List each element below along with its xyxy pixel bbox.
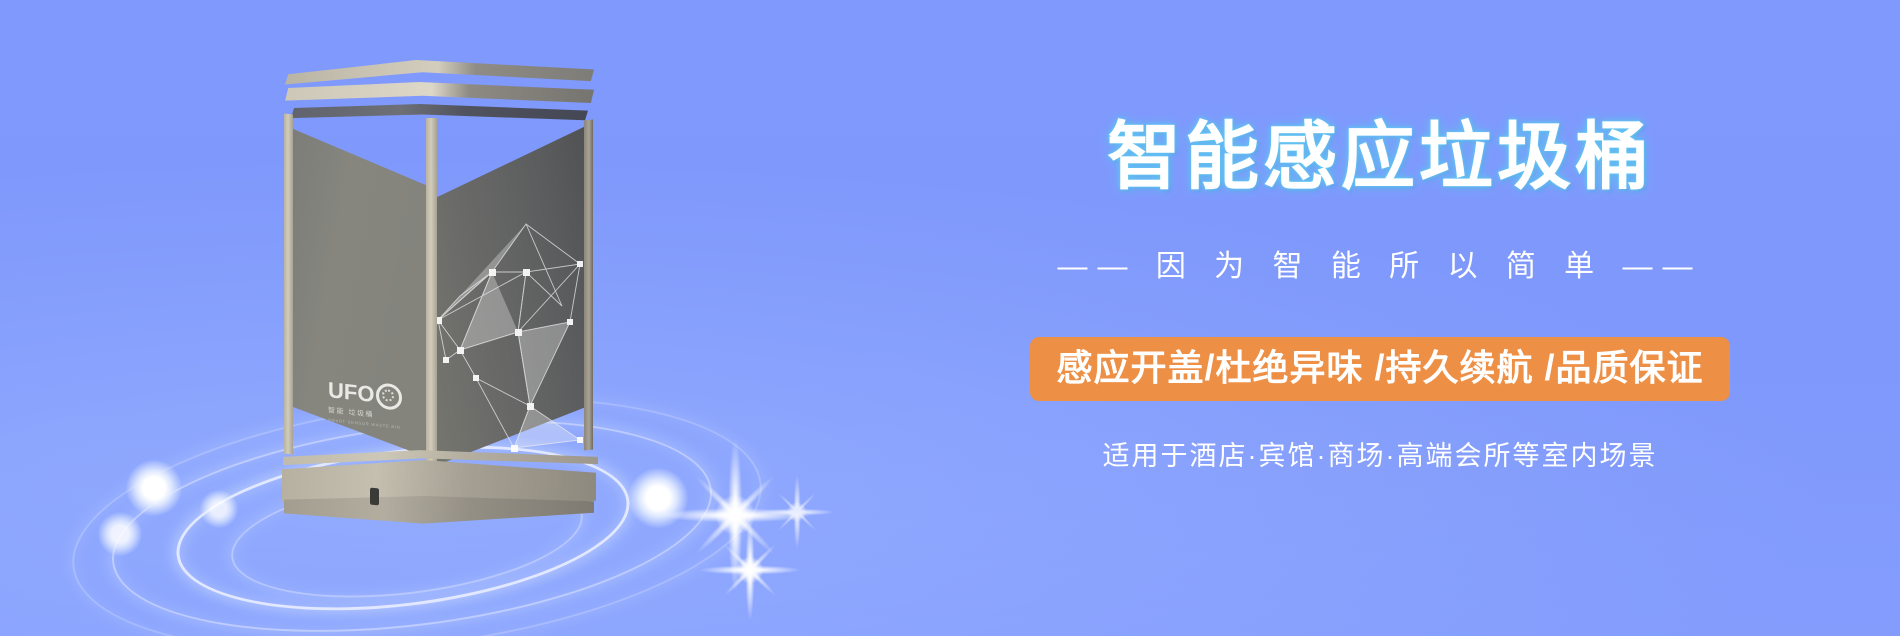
trash-bin-product: UFO 智能 垃圾桶 SMART SENSOR WASTE BIN bbox=[278, 60, 598, 500]
bin-edge-left bbox=[284, 113, 293, 454]
glow-orb-icon bbox=[628, 468, 688, 528]
feature-badge-wrap: 感应开盖/杜绝异味 /持久续航 /品质保证 bbox=[860, 337, 1900, 401]
glow-orb-icon bbox=[98, 512, 142, 556]
glow-orb-icon bbox=[200, 490, 238, 528]
product-logo: UFO 智能 垃圾桶 SMART SENSOR WASTE BIN bbox=[328, 377, 420, 432]
headline: 智能感应垃圾桶 bbox=[860, 120, 1900, 194]
logo-circle-icon bbox=[376, 382, 402, 411]
product-banner: UFO 智能 垃圾桶 SMART SENSOR WASTE BIN 智能感应垃圾… bbox=[0, 0, 1900, 636]
polygon-network-graphic bbox=[430, 210, 590, 460]
usage-tagline: 适用于酒店·宾馆·商场·高端会所等室内场景 bbox=[860, 443, 1900, 470]
product-stage: UFO 智能 垃圾桶 SMART SENSOR WASTE BIN bbox=[0, 0, 860, 636]
bin-lid-shadow bbox=[288, 104, 588, 126]
copy-block: 智能感应垃圾桶 —— 因 为 智 能 所 以 简 单 —— 感应开盖/杜绝异味 … bbox=[860, 0, 1900, 636]
subheadline: —— 因 为 智 能 所 以 简 单 —— bbox=[860, 252, 1900, 282]
logo-wordmark: UFO bbox=[328, 379, 374, 406]
bin-edge-center bbox=[426, 118, 437, 470]
feature-badge: 感应开盖/杜绝异味 /持久续航 /品质保证 bbox=[1030, 337, 1729, 401]
glow-orb-icon bbox=[126, 460, 182, 516]
bin-base-slot bbox=[370, 488, 379, 506]
bin-edge-right bbox=[584, 120, 593, 451]
